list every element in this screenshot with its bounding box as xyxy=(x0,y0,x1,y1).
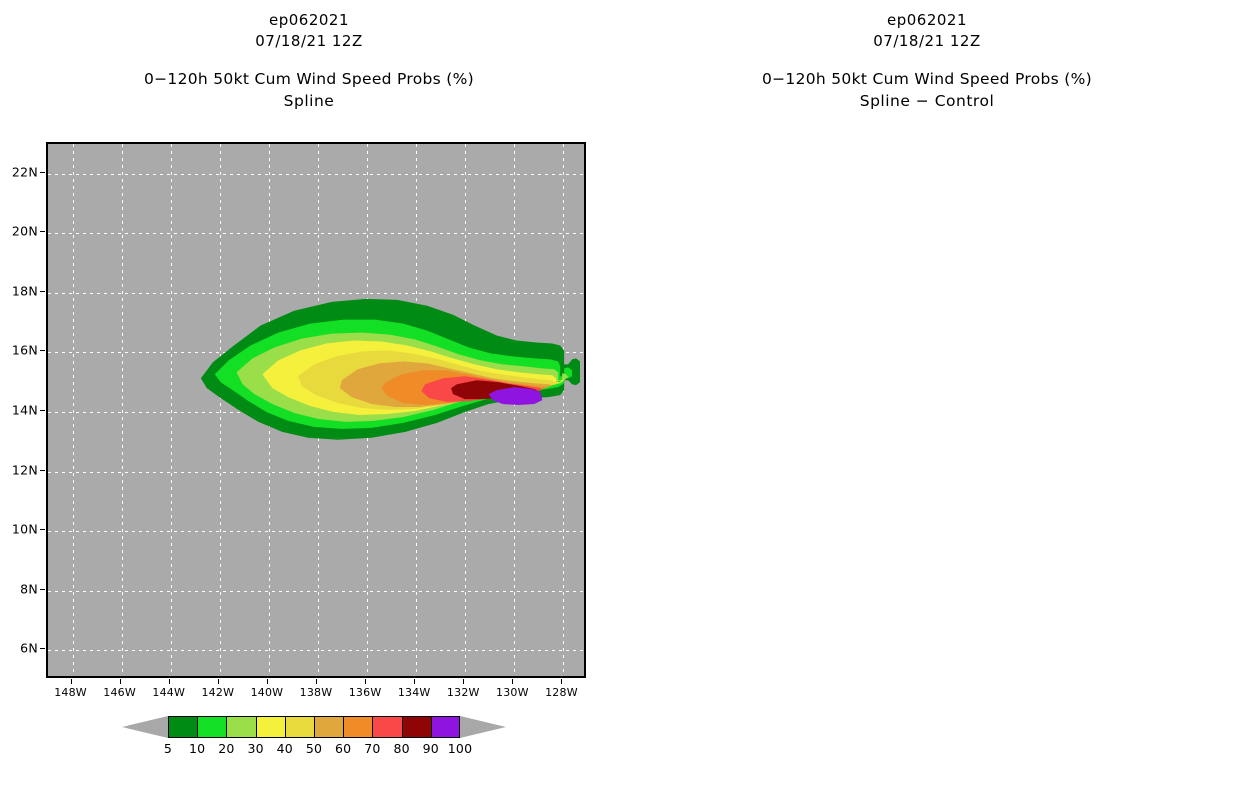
colorbar-segment xyxy=(314,716,343,738)
y-axis-tick xyxy=(40,470,45,471)
left-panel-titles: ep062021 07/18/21 12Z 0−120h 50kt Cum Wi… xyxy=(0,0,618,112)
right-valid-time: 07/18/21 12Z xyxy=(618,31,1236,52)
colorbar-segment xyxy=(402,716,431,738)
panel-spline-minus-control: ep062021 07/18/21 12Z 0−120h 50kt Cum Wi… xyxy=(618,0,1236,800)
x-axis-tick-label: 140W xyxy=(251,686,284,699)
y-axis-tick xyxy=(40,529,45,530)
x-axis-tick xyxy=(463,679,464,684)
colorbar-tick-label: 40 xyxy=(277,741,293,756)
y-axis-tick xyxy=(40,350,45,351)
figure-root: ep062021 07/18/21 12Z 0−120h 50kt Cum Wi… xyxy=(0,0,1236,800)
x-axis-tick-label: 130W xyxy=(496,686,529,699)
right-storm-id: ep062021 xyxy=(618,10,1236,31)
colorbar-tick-label: 30 xyxy=(247,741,263,756)
x-axis-tick xyxy=(267,679,268,684)
colorbar-segment xyxy=(431,716,460,738)
colorbar-segment xyxy=(197,716,226,738)
colorbar-tick-label: 5 xyxy=(164,741,172,756)
x-axis-tick-label: 144W xyxy=(152,686,185,699)
right-panel-titles: ep062021 07/18/21 12Z 0−120h 50kt Cum Wi… xyxy=(618,0,1236,112)
x-axis-tick-label: 142W xyxy=(201,686,234,699)
colorbar-segment xyxy=(285,716,314,738)
y-axis-tick xyxy=(40,172,45,173)
colorbar-tick-label: 70 xyxy=(364,741,380,756)
x-axis-tick xyxy=(561,679,562,684)
colorbar-segment xyxy=(372,716,401,738)
y-axis-tick-label: 12N xyxy=(0,462,38,477)
y-axis-tick-label: 10N xyxy=(0,522,38,537)
colorbar-tick-label: 20 xyxy=(218,741,234,756)
left-valid-time: 07/18/21 12Z xyxy=(0,31,618,52)
y-axis-tick-label: 16N xyxy=(0,343,38,358)
colorbar-tick-label: 60 xyxy=(335,741,351,756)
colorbar-arrow-left xyxy=(122,716,168,738)
x-axis-tick-label: 146W xyxy=(103,686,136,699)
colorbar-segment xyxy=(256,716,285,738)
x-axis-tick-label: 128W xyxy=(545,686,578,699)
colorbar-tick-label: 50 xyxy=(306,741,322,756)
colorbar-segment xyxy=(343,716,372,738)
colorbar-tick-label: 90 xyxy=(423,741,439,756)
x-axis-tick-label: 136W xyxy=(349,686,382,699)
right-title-sub: Spline − Control xyxy=(618,90,1236,112)
y-axis-tick xyxy=(40,589,45,590)
x-axis-tick xyxy=(414,679,415,684)
colorbar-arrow-right xyxy=(460,716,506,738)
y-axis-tick-label: 6N xyxy=(0,641,38,656)
x-axis-tick xyxy=(316,679,317,684)
x-axis-tick-label: 134W xyxy=(398,686,431,699)
y-axis-tick xyxy=(40,291,45,292)
x-axis-tick xyxy=(71,679,72,684)
x-axis-tick-label: 132W xyxy=(447,686,480,699)
left-storm-id: ep062021 xyxy=(0,10,618,31)
x-axis-tick xyxy=(218,679,219,684)
colorbar-tick-label: 80 xyxy=(393,741,409,756)
y-axis-tick xyxy=(40,410,45,411)
right-title-main: 0−120h 50kt Cum Wind Speed Probs (%) xyxy=(618,69,1236,90)
left-contour-field xyxy=(48,144,584,676)
y-axis-tick xyxy=(40,231,45,232)
y-axis-tick xyxy=(40,648,45,649)
colorbar-segment xyxy=(226,716,255,738)
colorbar-tick-label: 10 xyxy=(189,741,205,756)
x-axis-tick xyxy=(169,679,170,684)
left-title-main: 0−120h 50kt Cum Wind Speed Probs (%) xyxy=(0,69,618,90)
y-axis-tick-label: 14N xyxy=(0,403,38,418)
left-plot-area xyxy=(46,142,586,678)
left-title-sub: Spline xyxy=(0,90,618,112)
x-axis-tick-label: 138W xyxy=(300,686,333,699)
left-colorbar: 5102030405060708090100 xyxy=(168,716,460,738)
x-axis-tick xyxy=(512,679,513,684)
x-axis-tick-label: 148W xyxy=(54,686,87,699)
y-axis-tick-label: 20N xyxy=(0,224,38,239)
x-axis-tick xyxy=(365,679,366,684)
y-axis-tick-label: 8N xyxy=(0,581,38,596)
panel-spline: ep062021 07/18/21 12Z 0−120h 50kt Cum Wi… xyxy=(0,0,618,800)
x-axis-tick xyxy=(120,679,121,684)
colorbar-segment xyxy=(168,716,197,738)
colorbar-tick-label: 100 xyxy=(448,741,472,756)
y-axis-tick-label: 18N xyxy=(0,283,38,298)
y-axis-tick-label: 22N xyxy=(0,164,38,179)
